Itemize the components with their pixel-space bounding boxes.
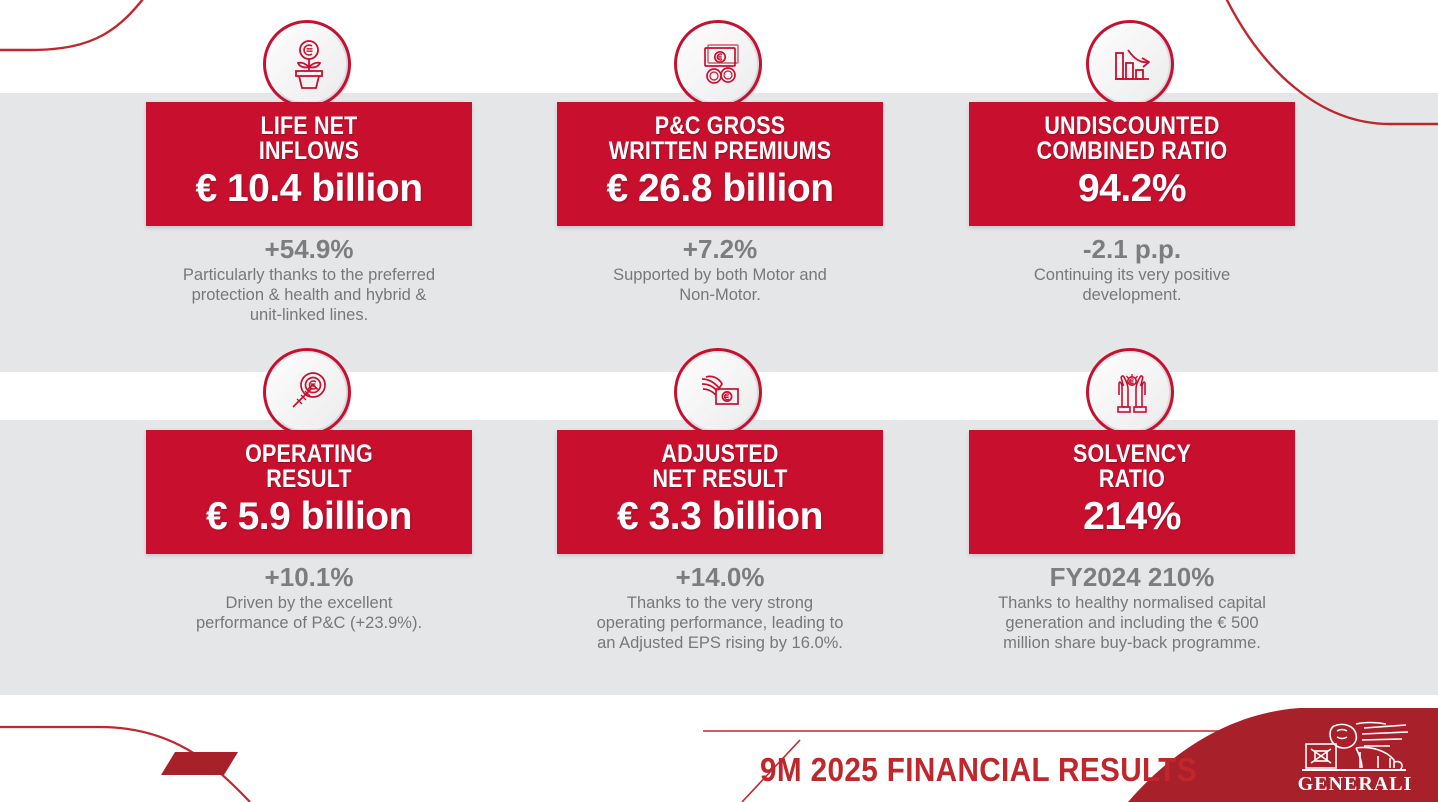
generali-logo: GENERALI [1290, 718, 1420, 796]
kpi-note: Supported by both Motor and Non-Motor. [557, 265, 883, 305]
banknotes-coins-euro-icon [674, 20, 766, 112]
kpi-headline-box: UNDISCOUNTED COMBINED RATIO 94.2% [969, 102, 1295, 226]
kpi-card-solvency-ratio: SOLVENCY RATIO 214% FY2024 210% Thanks t… [969, 348, 1295, 653]
kpi-kicker: ADJUSTED NET RESULT [587, 442, 854, 492]
kpi-headline-box: SOLVENCY RATIO 214% [969, 430, 1295, 554]
kpi-delta: -2.1 p.p. [969, 234, 1295, 264]
kpi-value: € 26.8 billion [565, 166, 875, 212]
target-arrow-euro-icon [263, 348, 355, 440]
cards-grid: LIFE NET INFLOWS € 10.4 billion +54.9% P… [0, 0, 1438, 802]
kpi-headline-box: LIFE NET INFLOWS € 10.4 billion [146, 102, 472, 226]
kpi-headline-box: OPERATING RESULT € 5.9 billion [146, 430, 472, 554]
generali-wordmark: GENERALI [1290, 773, 1420, 796]
kpi-card-life-net-inflows: LIFE NET INFLOWS € 10.4 billion +54.9% P… [146, 20, 472, 325]
kpi-delta: FY2024 210% [969, 562, 1295, 592]
hands-protecting-euro-icon [1086, 348, 1178, 440]
footer-title: 9M 2025 FINANCIAL RESULTS [760, 752, 1165, 788]
kpi-value: € 3.3 billion [565, 494, 875, 540]
kpi-note: Continuing its very positive development… [969, 265, 1295, 305]
winged-lion-icon [1290, 718, 1420, 778]
kpi-value: 94.2% [977, 166, 1287, 212]
infographic-root: LIFE NET INFLOWS € 10.4 billion +54.9% P… [0, 0, 1438, 802]
plant-euro-growth-icon [263, 20, 355, 112]
kpi-headline-box: P&C GROSS WRITTEN PREMIUMS € 26.8 billio… [557, 102, 883, 226]
kpi-value: € 5.9 billion [154, 494, 464, 540]
kpi-value: € 10.4 billion [154, 166, 464, 212]
kpi-kicker: LIFE NET INFLOWS [176, 114, 443, 164]
kpi-note: Thanks to healthy normalised capital gen… [969, 593, 1295, 653]
bar-chart-down-arrow-icon [1086, 20, 1178, 112]
kpi-kicker: UNDISCOUNTED COMBINED RATIO [999, 114, 1266, 164]
kpi-kicker: SOLVENCY RATIO [999, 442, 1266, 492]
kpi-headline-box: ADJUSTED NET RESULT € 3.3 billion [557, 430, 883, 554]
kpi-note: Particularly thanks to the preferred pro… [146, 265, 472, 325]
kpi-note: Driven by the excellent performance of P… [146, 593, 472, 633]
kpi-delta: +14.0% [557, 562, 883, 592]
kpi-kicker: OPERATING RESULT [176, 442, 443, 492]
kpi-card-pc-gross-written-premiums: P&C GROSS WRITTEN PREMIUMS € 26.8 billio… [557, 20, 883, 305]
kpi-value: 214% [977, 494, 1287, 540]
kpi-delta: +10.1% [146, 562, 472, 592]
kpi-card-undiscounted-combined-ratio: UNDISCOUNTED COMBINED RATIO 94.2% -2.1 p… [969, 20, 1295, 305]
kpi-note: Thanks to the very strong operating perf… [557, 593, 883, 653]
kpi-kicker: P&C GROSS WRITTEN PREMIUMS [587, 114, 854, 164]
kpi-card-operating-result: OPERATING RESULT € 5.9 billion +10.1% Dr… [146, 348, 472, 633]
kpi-delta: +54.9% [146, 234, 472, 264]
kpi-delta: +7.2% [557, 234, 883, 264]
kpi-card-adjusted-net-result: ADJUSTED NET RESULT € 3.3 billion +14.0%… [557, 348, 883, 653]
hand-euro-banknote-icon [674, 348, 766, 440]
